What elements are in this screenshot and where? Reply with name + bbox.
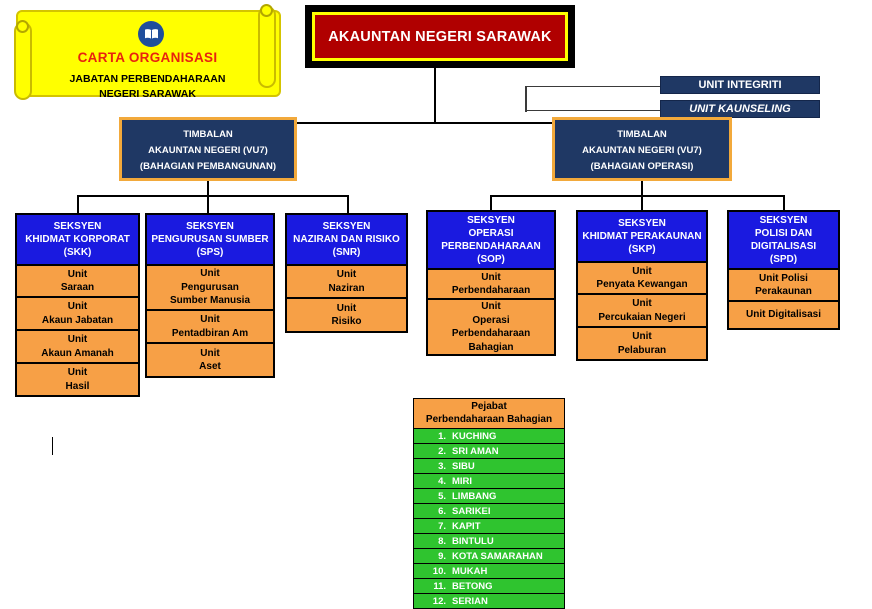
connector-title-vertical <box>434 68 436 124</box>
unit-perbendaharaan[interactable]: Unit Perbendaharaan <box>426 270 556 300</box>
unit-pentadbiran-am[interactable]: Unit Pentadbiran Am <box>145 311 275 344</box>
section-sop-head-line4: (SOP) <box>477 253 505 266</box>
unit-polisi-perakaunan[interactable]: Unit Polisi Perakaunan <box>727 270 840 302</box>
banner-scroll-right <box>258 6 276 88</box>
section-skp-head-line2: KHIDMAT PERAKAUNAN <box>582 230 701 243</box>
section-snr-head-line3: (SNR) <box>333 246 361 259</box>
unit-saraan[interactable]: Unit Saraan <box>15 266 140 298</box>
deputy-operasi-box[interactable]: TIMBALAN AKAUNTAN NEGERI (VU7) (BAHAGIAN… <box>552 117 732 181</box>
section-spd: SEKSYEN POLISI DAN DIGITALISASI (SPD) Un… <box>727 210 840 330</box>
section-snr: SEKSYEN NAZIRAN DAN RISIKO (SNR) Unit Na… <box>285 213 408 333</box>
office-row[interactable]: 10. MUKAH <box>414 564 564 579</box>
section-skp: SEKSYEN KHIDMAT PERAKAUNAN (SKP) Unit Pe… <box>576 210 708 361</box>
section-snr-head-line2: NAZIRAN DAN RISIKO <box>293 233 400 246</box>
offices-head-line2: Perbendaharaan Bahagian <box>414 413 564 426</box>
section-spd-head-line3: DIGITALISASI <box>751 240 816 253</box>
text-cursor <box>52 437 53 455</box>
connector-deputy-ops-down <box>641 181 643 196</box>
connector-side-units-spine <box>525 86 527 111</box>
connector-deputy-dev-down <box>207 181 209 196</box>
section-skk-header[interactable]: SEKSYEN KHIDMAT KORPORAT (SKK) <box>15 213 140 266</box>
connector-kaunseling-horizontal <box>525 110 661 111</box>
connector-right-sections-bus <box>490 195 785 197</box>
offices-table-header: Pejabat Perbendaharaan Bahagian <box>414 399 564 429</box>
unit-kaunseling-box[interactable]: UNIT KAUNSELING <box>660 100 820 118</box>
office-row[interactable]: 2. SRI AMAN <box>414 444 564 459</box>
office-row[interactable]: 3. SIBU <box>414 459 564 474</box>
office-row[interactable]: 5. LIMBANG <box>414 489 564 504</box>
banner-knob-right <box>260 4 273 17</box>
deputy-pembangunan-line1: TIMBALAN <box>122 127 294 143</box>
main-title-text: AKAUNTAN NEGERI SARAWAK <box>312 12 568 61</box>
section-snr-head-line1: SEKSYEN <box>323 220 371 233</box>
unit-hasil[interactable]: Unit Hasil <box>15 364 140 397</box>
section-sps: SEKSYEN PENGURUSAN SUMBER (SPS) Unit Pen… <box>145 213 275 378</box>
banner-knob-left <box>16 20 29 33</box>
section-skk-head-line1: SEKSYEN <box>54 220 102 233</box>
unit-digitalisasi[interactable]: Unit Digitalisasi <box>727 302 840 330</box>
deputy-operasi-line3: (BAHAGIAN OPERASI) <box>555 159 729 175</box>
section-sps-head-line3: (SPS) <box>197 246 224 259</box>
section-sps-header[interactable]: SEKSYEN PENGURUSAN SUMBER (SPS) <box>145 213 275 266</box>
section-snr-header[interactable]: SEKSYEN NAZIRAN DAN RISIKO (SNR) <box>285 213 408 266</box>
deputy-pembangunan-line3: (BAHAGIAN PEMBANGUNAN) <box>122 159 294 175</box>
main-title-box: AKAUNTAN NEGERI SARAWAK <box>305 5 575 68</box>
section-skk-head-line2: KHIDMAT KORPORAT <box>25 233 130 246</box>
deputy-operasi-line2: AKAUNTAN NEGERI (VU7) <box>555 143 729 159</box>
section-sop-header[interactable]: SEKSYEN OPERASI PERBENDAHARAAN (SOP) <box>426 210 556 270</box>
office-row[interactable]: 4. MIRI <box>414 474 564 489</box>
section-sop-head-line2: OPERASI <box>468 227 513 240</box>
section-sop-head-line1: SEKSYEN <box>467 214 515 227</box>
deputy-pembangunan-box[interactable]: TIMBALAN AKAUNTAN NEGERI (VU7) (BAHAGIAN… <box>119 117 297 181</box>
banner-scroll-left <box>14 22 32 100</box>
section-spd-header[interactable]: SEKSYEN POLISI DAN DIGITALISASI (SPD) <box>727 210 840 270</box>
unit-naziran[interactable]: Unit Naziran <box>285 266 408 299</box>
unit-aset[interactable]: Unit Aset <box>145 344 275 378</box>
unit-pengurusan-sumber-manusia[interactable]: Unit Pengurusan Sumber Manusia <box>145 266 275 311</box>
office-row[interactable]: 12. SERIAN <box>414 594 564 608</box>
org-chart-canvas: CARTA ORGANISASI JABATAN PERBENDAHARAAN … <box>0 0 872 593</box>
unit-akaun-jabatan[interactable]: Unit Akaun Jabatan <box>15 298 140 331</box>
section-sps-head-line1: SEKSYEN <box>186 220 234 233</box>
section-spd-head-line1: SEKSYEN <box>760 214 808 227</box>
connector-sop-down <box>490 195 492 211</box>
unit-integriti-box[interactable]: UNIT INTEGRITI <box>660 76 820 94</box>
section-spd-head-line4: (SPD) <box>770 253 797 266</box>
section-skp-header[interactable]: SEKSYEN KHIDMAT PERAKAUNAN (SKP) <box>576 210 708 263</box>
unit-akaun-amanah[interactable]: Unit Akaun Amanah <box>15 331 140 364</box>
section-skp-head-line3: (SKP) <box>628 243 655 256</box>
office-row[interactable]: 1. KUCHING <box>414 429 564 444</box>
office-row[interactable]: 6. SARIKEI <box>414 504 564 519</box>
unit-penyata-kewangan[interactable]: Unit Penyata Kewangan <box>576 263 708 295</box>
banner-subtitle-line2: NEGERI SARAWAK <box>40 87 255 102</box>
connector-snr-down <box>347 195 349 214</box>
section-sop: SEKSYEN OPERASI PERBENDAHARAAN (SOP) Uni… <box>426 210 556 356</box>
office-row[interactable]: 7. KAPIT <box>414 519 564 534</box>
connector-skp-down <box>641 195 643 211</box>
connector-spd-down <box>783 195 785 211</box>
connector-left-sections-bus <box>77 195 349 197</box>
unit-pelaburan[interactable]: Unit Pelaburan <box>576 328 708 361</box>
banner-title: CARTA ORGANISASI <box>40 50 255 65</box>
section-skk-head-line3: (SKK) <box>64 246 92 259</box>
office-row[interactable]: 8. BINTULU <box>414 534 564 549</box>
connector-skk-down <box>77 195 79 214</box>
deputy-operasi-line1: TIMBALAN <box>555 127 729 143</box>
section-sop-head-line3: PERBENDAHARAAN <box>441 240 540 253</box>
deputy-pembangunan-line2: AKAUNTAN NEGERI (VU7) <box>122 143 294 159</box>
connector-sps-down <box>207 195 209 214</box>
book-icon <box>138 21 164 47</box>
banner-subtitle: JABATAN PERBENDAHARAAN NEGERI SARAWAK <box>40 72 255 102</box>
section-sps-head-line2: PENGURUSAN SUMBER <box>151 233 268 246</box>
unit-percukaian-negeri[interactable]: Unit Percukaian Negeri <box>576 295 708 328</box>
unit-kaunseling-label: UNIT KAUNSELING <box>689 103 790 115</box>
section-skp-head-line1: SEKSYEN <box>618 217 666 230</box>
section-skk: SEKSYEN KHIDMAT KORPORAT (SKK) Unit Sara… <box>15 213 140 397</box>
unit-operasi-perbendaharaan-bahagian[interactable]: Unit Operasi Perbendaharaan Bahagian <box>426 300 556 356</box>
unit-integriti-label: UNIT INTEGRITI <box>698 79 781 91</box>
office-row[interactable]: 9. KOTA SAMARAHAN <box>414 549 564 564</box>
unit-risiko[interactable]: Unit Risiko <box>285 299 408 333</box>
banner-subtitle-line1: JABATAN PERBENDAHARAAN <box>40 72 255 87</box>
offices-table: Pejabat Perbendaharaan Bahagian 1. KUCHI… <box>413 398 565 609</box>
offices-head-line1: Pejabat <box>414 400 564 413</box>
office-row[interactable]: 11. BETONG <box>414 579 564 594</box>
connector-integriti-horizontal <box>525 86 661 87</box>
section-spd-head-line2: POLISI DAN <box>755 227 812 240</box>
